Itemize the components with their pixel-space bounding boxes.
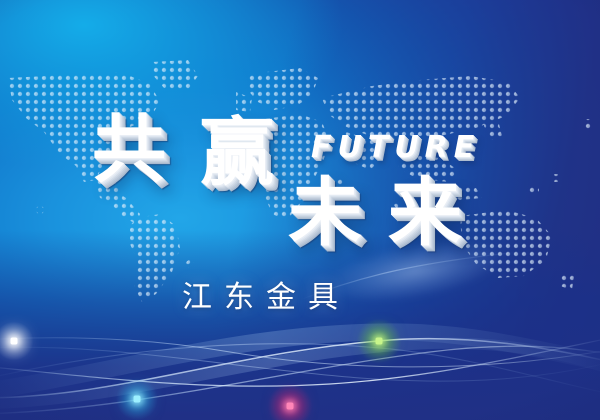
company-name-text: 江东金具 — [182, 272, 350, 316]
subtitle-future: FUTURE — [311, 130, 480, 165]
headline-char-gong: 共 — [92, 113, 166, 187]
headline-char-ying: 赢 — [200, 116, 274, 190]
headline-char-lai: 来 — [388, 176, 462, 250]
headline-char-wei: 未 — [288, 176, 362, 250]
promotional-banner: 共 赢 未 来 FUTURE 江东金具 — [0, 0, 600, 420]
